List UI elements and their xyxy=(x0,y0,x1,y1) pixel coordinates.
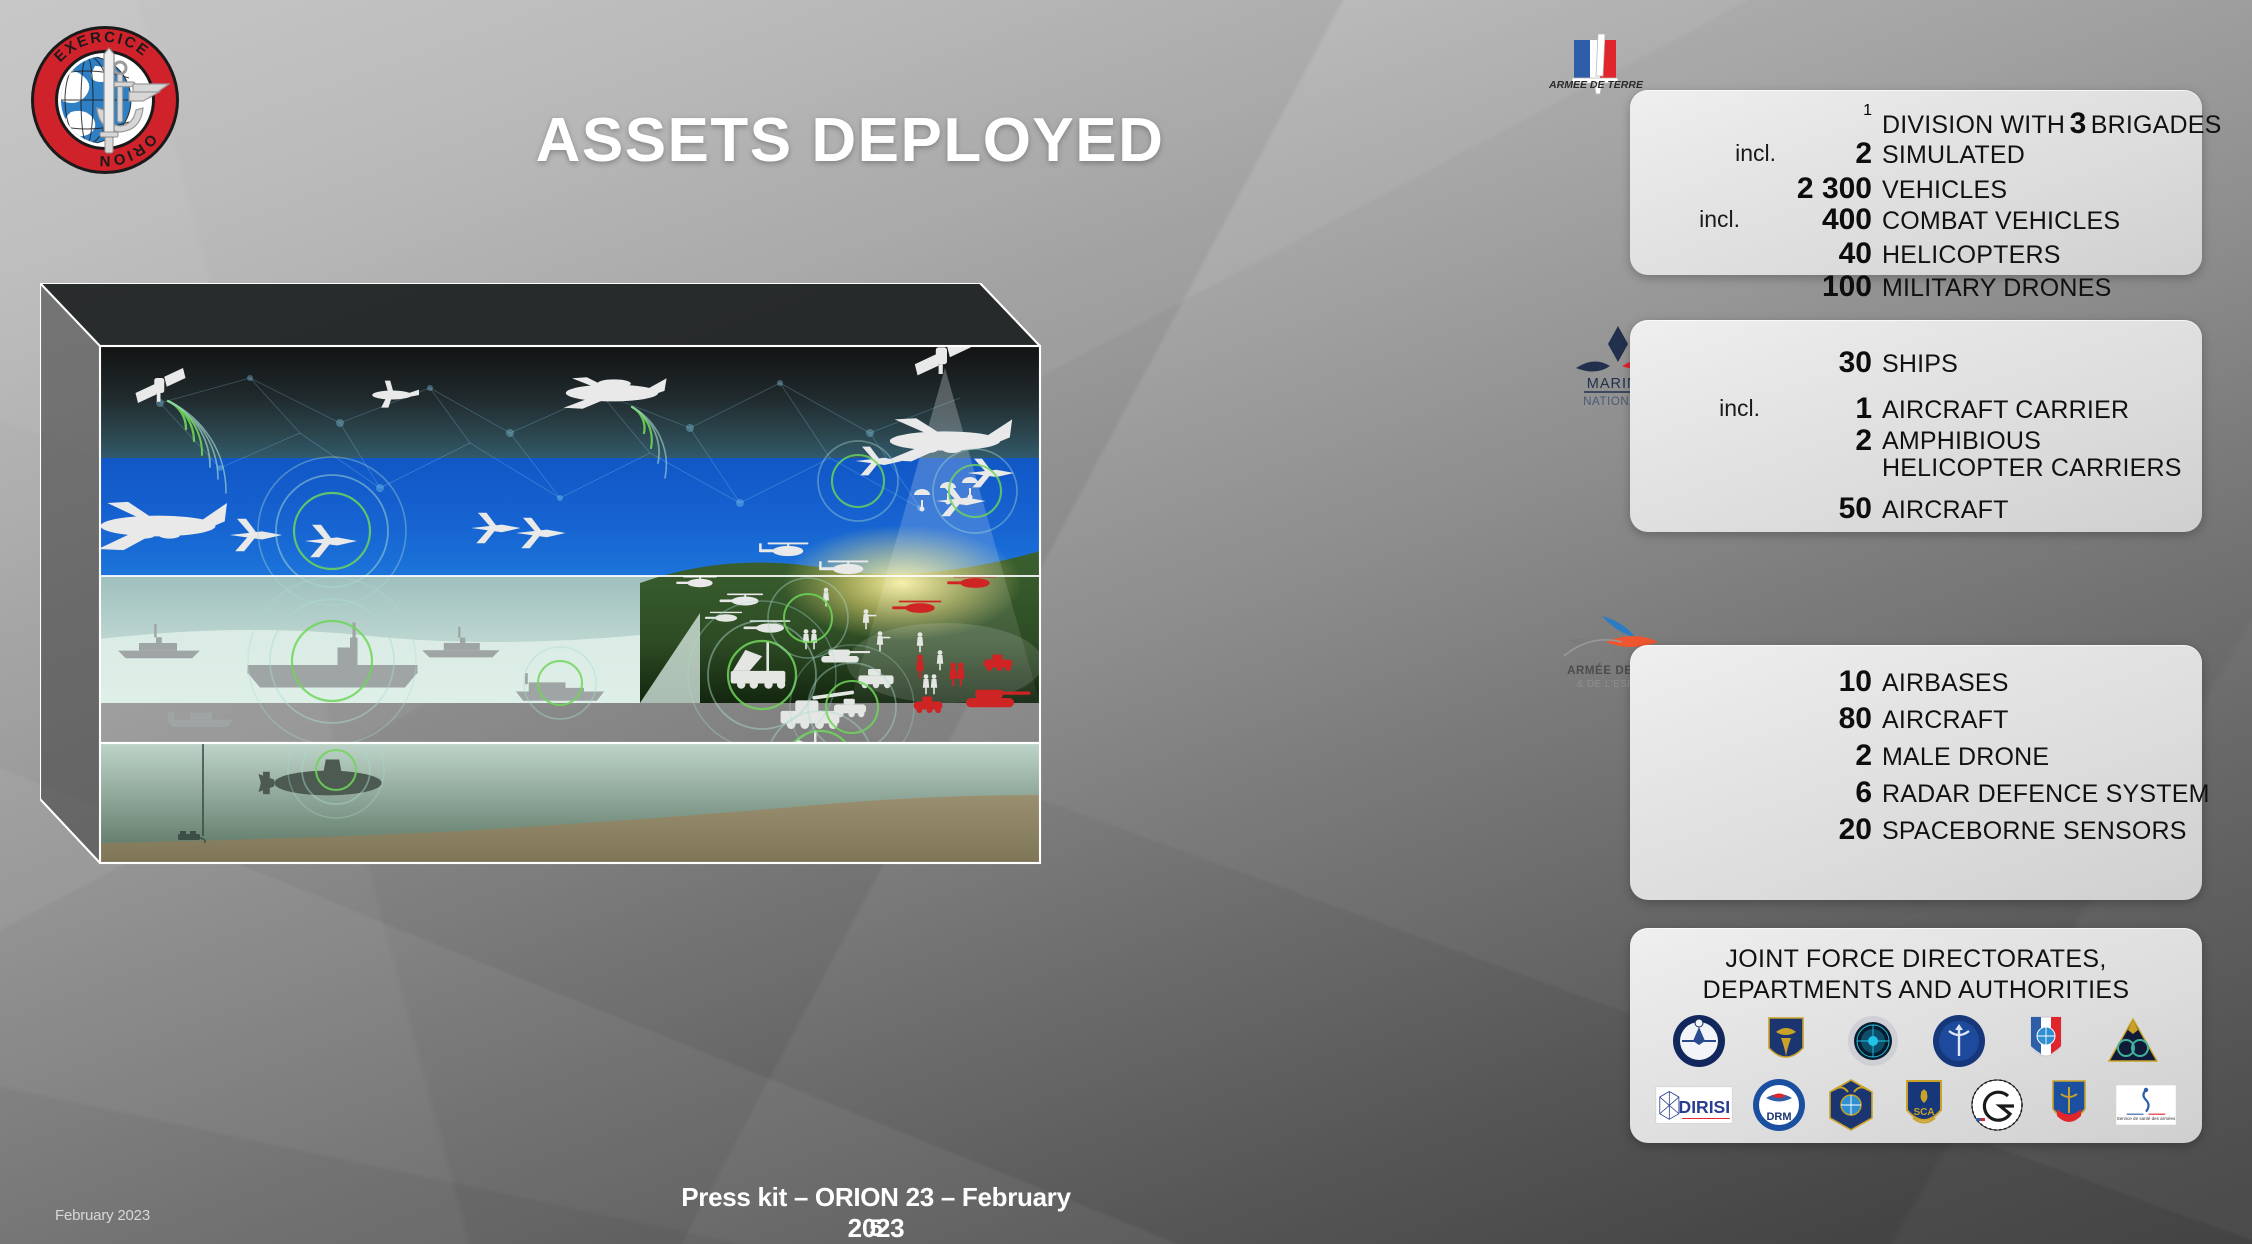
navy-row-1-number: 30 xyxy=(1740,346,1872,380)
navy-row-3-number: 2 xyxy=(1776,424,1872,458)
dirisi-wordmark: DIRISI xyxy=(1679,1097,1731,1117)
drm-wordmark: DRM xyxy=(1766,1111,1791,1123)
navy-row-4-label: AIRCRAFT xyxy=(1882,496,2009,525)
cpco-crest xyxy=(1932,1014,1986,1068)
joint-crest-row-2: DIRISI DRM SCA xyxy=(1630,1078,2202,1132)
service-energie-operationnel-crest xyxy=(1970,1078,2024,1132)
supply-ship xyxy=(166,712,233,727)
air-row-2-number: 80 xyxy=(1740,702,1872,736)
service-sante-des-armees-logo: Service de santé des armées xyxy=(2115,1078,2177,1132)
blue-shield-crest xyxy=(2042,1078,2096,1132)
sante-wordmark: Service de santé des armées xyxy=(2116,1116,2175,1121)
navy-row-2-number: 1 xyxy=(1776,392,1872,426)
army-row-4-incl: incl. xyxy=(1630,206,1740,233)
joint-force-title-line2: DEPARTMENTS AND AUTHORITIES xyxy=(1630,975,2202,1006)
footer-page-number: 5 xyxy=(676,1215,1076,1243)
army-row-2-number: 2 xyxy=(1776,137,1872,171)
army-row-4-label: COMBAT VEHICLES xyxy=(1882,207,2120,236)
navy-row-2-incl: incl. xyxy=(1650,395,1760,422)
sca-wordmark: SCA xyxy=(1913,1107,1934,1118)
panel-joint-force-directorates: JOINT FORCE DIRECTORATES, DEPARTMENTS AN… xyxy=(1630,928,2202,1143)
panel-marine-nationale: 30 SHIPS incl. 1 AIRCRAFT CARRIER 2 AMPH… xyxy=(1630,320,2202,532)
exercice-orion-logo: EXERCICE ORION xyxy=(25,20,185,180)
multi-domain-operations-diagram xyxy=(40,283,1120,873)
drm-crest: DRM xyxy=(1752,1078,1806,1132)
navy-row-1-label: SHIPS xyxy=(1882,350,1958,379)
army-row-1-number: 1 xyxy=(1776,102,1872,120)
sca-crest: SCA xyxy=(1897,1078,1951,1132)
air-row-5-number: 20 xyxy=(1740,813,1872,847)
joint-crest-row-1 xyxy=(1630,1014,2202,1068)
army-row-6-label: MILITARY DRONES xyxy=(1882,274,2111,303)
comcyber-crest xyxy=(1846,1014,1900,1068)
cicde-crest xyxy=(1759,1014,1813,1068)
air-row-2-label: AIRCRAFT xyxy=(1882,706,2009,735)
joint-force-title: JOINT FORCE DIRECTORATES, DEPARTMENTS AN… xyxy=(1630,944,2202,1006)
army-row-3-label: VEHICLES xyxy=(1882,176,2007,205)
panel-armee-de-terre: 1 DIVISION WITH 3 BRIGADES incl. 2 SIMUL… xyxy=(1630,90,2202,275)
army-row-2-label: SIMULATED xyxy=(1882,141,2025,170)
army-row-3-number: 2 300 xyxy=(1740,172,1872,206)
air-row-1-label: AIRBASES xyxy=(1882,669,2009,698)
hexagon-globe-crest xyxy=(1824,1078,1878,1132)
box-top-face xyxy=(40,283,1040,346)
air-row-5-label: SPACEBORNE SENSORS xyxy=(1882,817,2187,846)
navy-row-3-label: AMPHIBIOUS HELICOPTER CARRIERS xyxy=(1882,428,2192,482)
dirisi-logo: DIRISI xyxy=(1655,1078,1733,1132)
navy-row-2-label: AIRCRAFT CARRIER xyxy=(1882,396,2129,425)
army-row-5-number: 40 xyxy=(1740,237,1872,271)
page-title: ASSETS DEPLOYED xyxy=(400,105,1300,176)
triangle-crest xyxy=(2106,1014,2160,1068)
globe-tricolour-crest xyxy=(2019,1014,2073,1068)
footer-date: February 2023 xyxy=(55,1207,150,1224)
air-row-1-number: 10 xyxy=(1740,665,1872,699)
panel-armee-de-lair: 10 AIRBASES 80 AIRCRAFT 2 MALE DRONE 6 R… xyxy=(1630,645,2202,900)
commandement-des-forces-crest xyxy=(1672,1014,1726,1068)
air-row-4-number: 6 xyxy=(1740,776,1872,810)
army-row-2-incl: incl. xyxy=(1666,140,1776,167)
army-row-4-number: 400 xyxy=(1740,203,1872,237)
army-row-6-number: 100 xyxy=(1740,270,1872,304)
slide-root: EXERCICE ORION ASSETS DEPLOYED xyxy=(0,0,2252,1244)
army-row-1-label: DIVISION WITH 3 BRIGADES xyxy=(1882,107,2222,141)
air-row-4-label: RADAR DEFENCE SYSTEM xyxy=(1882,780,2210,809)
air-row-3-number: 2 xyxy=(1740,739,1872,773)
air-row-3-label: MALE DRONE xyxy=(1882,743,2049,772)
box-left-face xyxy=(40,283,100,863)
navy-row-4-number: 50 xyxy=(1740,492,1872,526)
joint-force-title-line1: JOINT FORCE DIRECTORATES, xyxy=(1630,944,2202,975)
beam-footprint xyxy=(847,623,1043,703)
army-row-5-label: HELICOPTERS xyxy=(1882,241,2061,270)
